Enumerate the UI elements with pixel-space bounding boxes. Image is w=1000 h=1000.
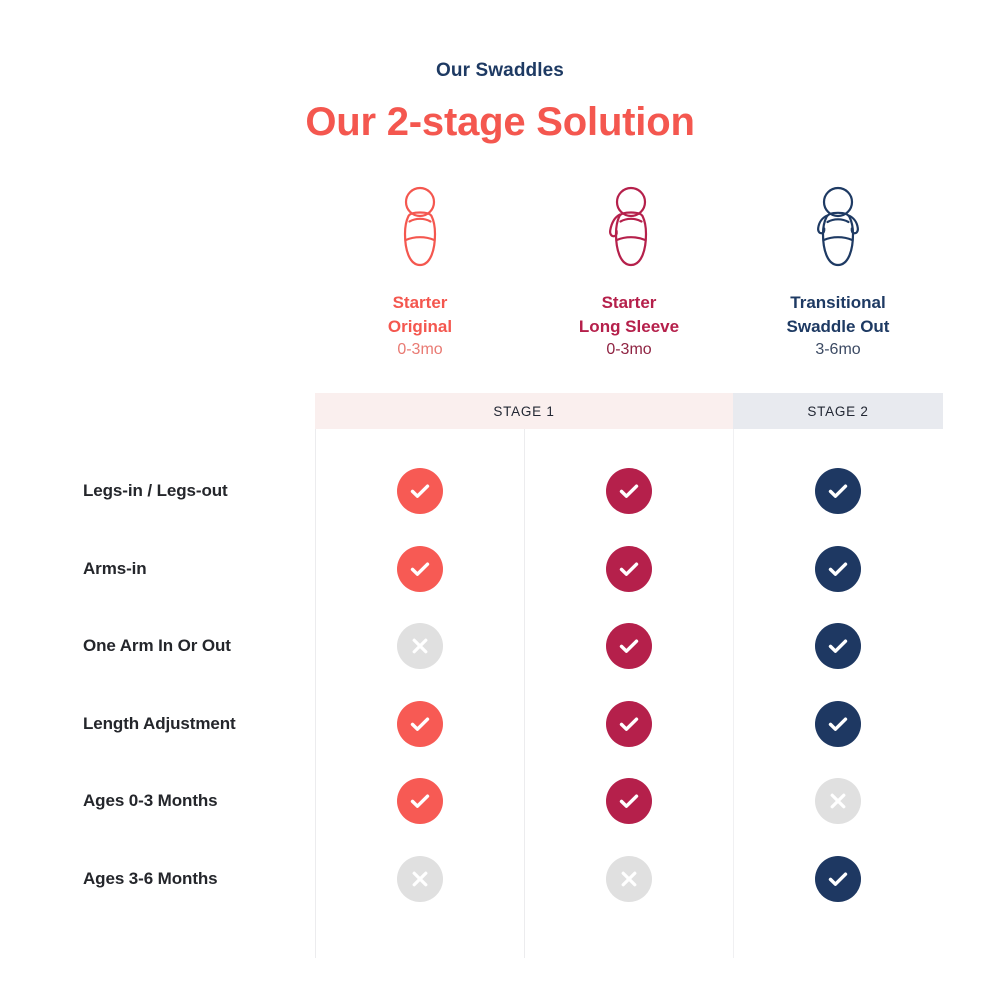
feature-cell xyxy=(815,701,861,747)
feature-cell xyxy=(606,623,652,669)
table-row: Arms-in xyxy=(0,546,1000,592)
feature-cell xyxy=(815,623,861,669)
check-icon xyxy=(815,546,861,592)
check-icon xyxy=(815,701,861,747)
check-icon xyxy=(815,856,861,902)
check-icon xyxy=(397,778,443,824)
feature-label: Length Adjustment xyxy=(83,701,236,747)
table-row: Ages 0-3 Months xyxy=(0,778,1000,824)
feature-cell xyxy=(397,778,443,824)
feature-cell xyxy=(397,546,443,592)
check-icon xyxy=(606,468,652,514)
comparison-table-rows: Legs-in / Legs-outArms-inOne Arm In Or O… xyxy=(0,0,1000,1000)
feature-label: Arms-in xyxy=(83,546,147,592)
feature-cell xyxy=(606,701,652,747)
feature-cell xyxy=(606,468,652,514)
cross-icon xyxy=(397,856,443,902)
cross-icon xyxy=(606,856,652,902)
check-icon xyxy=(815,468,861,514)
feature-label: One Arm In Or Out xyxy=(83,623,231,669)
check-icon xyxy=(606,546,652,592)
check-icon xyxy=(606,623,652,669)
check-icon xyxy=(397,468,443,514)
feature-cell xyxy=(397,468,443,514)
feature-label: Legs-in / Legs-out xyxy=(83,468,228,514)
check-icon xyxy=(606,778,652,824)
table-row: Ages 3-6 Months xyxy=(0,856,1000,902)
swaddle-comparison-page: Our Swaddles Our 2-stage Solution Starte… xyxy=(0,0,1000,1000)
feature-label: Ages 3-6 Months xyxy=(83,856,218,902)
feature-cell xyxy=(397,623,443,669)
feature-label: Ages 0-3 Months xyxy=(83,778,218,824)
check-icon xyxy=(606,701,652,747)
feature-cell xyxy=(606,856,652,902)
table-row: Legs-in / Legs-out xyxy=(0,468,1000,514)
table-row: One Arm In Or Out xyxy=(0,623,1000,669)
feature-cell xyxy=(397,701,443,747)
feature-cell xyxy=(815,468,861,514)
feature-cell xyxy=(815,546,861,592)
feature-cell xyxy=(815,856,861,902)
cross-icon xyxy=(815,778,861,824)
check-icon xyxy=(815,623,861,669)
feature-cell xyxy=(815,778,861,824)
feature-cell xyxy=(397,856,443,902)
feature-cell xyxy=(606,778,652,824)
feature-cell xyxy=(606,546,652,592)
cross-icon xyxy=(397,623,443,669)
table-row: Length Adjustment xyxy=(0,701,1000,747)
check-icon xyxy=(397,701,443,747)
check-icon xyxy=(397,546,443,592)
